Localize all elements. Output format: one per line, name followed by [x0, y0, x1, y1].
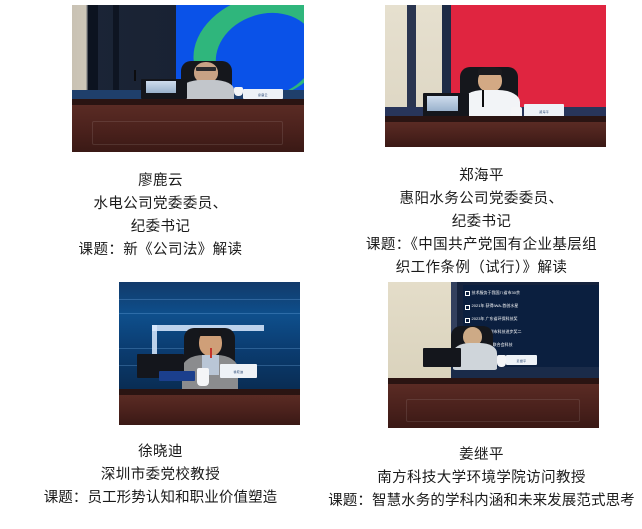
lecturer-photo-1: 廖鹿云	[72, 5, 304, 152]
entry-grid: 廖鹿云 廖鹿云 水电公司党委委员、 纪委书记 课题：新《公司法》解读	[0, 0, 642, 529]
photo1-podium-face	[72, 105, 304, 152]
photo4-slide-bullet-2-icon	[465, 318, 470, 323]
caption-2: 郑海平 惠阳水务公司党委委员、 纪委书记 课题：《中国共产党国有企业基层组 织工…	[321, 155, 642, 280]
photo2-laptop-screen	[427, 96, 458, 112]
photo2-microphone	[482, 90, 484, 107]
photo4-slide-line-1: 2021年 获得IWA-首创水星	[472, 303, 519, 309]
caption-1-topic-0: 课题：新《公司法》解读	[0, 239, 321, 262]
photo4-slide-line-2: 2023年 广东省环保科技奖	[472, 316, 518, 322]
caption-1-name: 廖鹿云	[0, 170, 321, 193]
caption-4: 姜继平 南方科技大学环境学院访问教授 课题：智慧水务的学科内涵和未来发展范式思考	[321, 434, 642, 513]
caption-3-name: 徐晓迪	[0, 441, 321, 464]
lecturer-photo-2: 郑海平	[385, 5, 606, 147]
caption-1-title-0: 水电公司党委委员、	[0, 193, 321, 216]
caption-2-title-1: 纪委书记	[321, 211, 642, 234]
caption-4-topic-0: 课题：智慧水务的学科内涵和未来发展范式思考	[321, 490, 642, 513]
lecturer-photo-4: 技术服务于我国八省市30余 2021年 获得IWA-首创水星 2023年 广东省…	[388, 282, 599, 428]
photo1-podium-inset	[92, 121, 282, 145]
photo4-laptop	[423, 348, 461, 367]
photo3-ripple-2	[119, 313, 300, 314]
entry-cell-3: 徐晓迪 徐晓迪 深圳市委党校教授 课题：员工形势认知和职业价值塑造	[0, 280, 321, 529]
photo4-podium-face	[388, 384, 599, 428]
photo3-microphone	[210, 348, 213, 358]
photo2-podium-face	[385, 122, 606, 147]
photo4-nameplate: 姜继平	[506, 355, 538, 365]
photo2-nameplate-text: 郑海平	[524, 110, 564, 114]
photo4-podium-inset	[406, 399, 579, 422]
caption-2-topic-0: 课题：《中国共产党国有企业基层组	[321, 234, 642, 257]
photo4-podium	[388, 378, 599, 428]
caption-1: 廖鹿云 水电公司党委委员、 纪委书记 课题：新《公司法》解读	[0, 160, 321, 262]
photo1-nameplate-text: 廖鹿云	[243, 93, 282, 97]
caption-2-name: 郑海平	[321, 165, 642, 188]
photo1-podium	[72, 99, 304, 152]
caption-3-title-0: 深圳市委党校教授	[0, 464, 321, 487]
entry-cell-4: 技术服务于我国八省市30余 2021年 获得IWA-首创水星 2023年 广东省…	[321, 280, 642, 529]
photo1-cup	[234, 87, 243, 96]
photo3-nameplate: 徐晓迪	[220, 364, 256, 378]
photo4-slide-bullet-1-icon	[465, 305, 470, 310]
photo4-slide-bullet-0-icon	[465, 291, 470, 296]
photo3-folder	[159, 371, 195, 381]
photo4-beige-wall	[388, 282, 451, 387]
caption-4-name: 姜继平	[321, 444, 642, 467]
photo4-slide-line-0: 技术服务于我国八省市30余	[472, 290, 520, 296]
lecturer-photo-3: 徐晓迪	[119, 282, 300, 425]
photo3-cup	[197, 368, 210, 387]
photo1-laptop-screen	[146, 81, 176, 93]
caption-2-title-0: 惠阳水务公司党委委员、	[321, 188, 642, 211]
entry-cell-1: 廖鹿云 廖鹿云 水电公司党委委员、 纪委书记 课题：新《公司法》解读	[0, 0, 321, 280]
photo3-podium	[119, 389, 300, 425]
photo2-person-hair	[478, 67, 502, 74]
photo3-ripple-1	[119, 299, 300, 300]
photo3-nameplate-text: 徐晓迪	[220, 370, 256, 374]
entry-cell-2: 郑海平 郑海平 惠阳水务公司党委委员、 纪委书记 课题：《中国共产党国有企业基层…	[321, 0, 642, 280]
caption-1-title-1: 纪委书记	[0, 216, 321, 239]
photo4-cup	[497, 355, 505, 367]
photo4-nameplate-text: 姜继平	[506, 359, 538, 363]
caption-3: 徐晓迪 深圳市委党校教授 课题：员工形势认知和职业价值塑造	[0, 431, 321, 510]
photo1-nameplate: 廖鹿云	[243, 89, 282, 99]
caption-4-title-0: 南方科技大学环境学院访问教授	[321, 467, 642, 490]
caption-3-topic-0: 课题：员工形势认知和职业价值塑造	[0, 487, 321, 510]
photo1-microphone	[134, 70, 136, 82]
caption-2-topic-1: 织工作条例（试行）》解读	[321, 257, 642, 280]
photo1-person-glasses	[196, 67, 217, 71]
photo3-person-hair	[199, 328, 223, 337]
photo3-podium-face	[119, 395, 300, 425]
photo-caption-document: 廖鹿云 廖鹿云 水电公司党委委员、 纪委书记 课题：新《公司法》解读	[0, 0, 642, 529]
photo2-podium	[385, 116, 606, 147]
